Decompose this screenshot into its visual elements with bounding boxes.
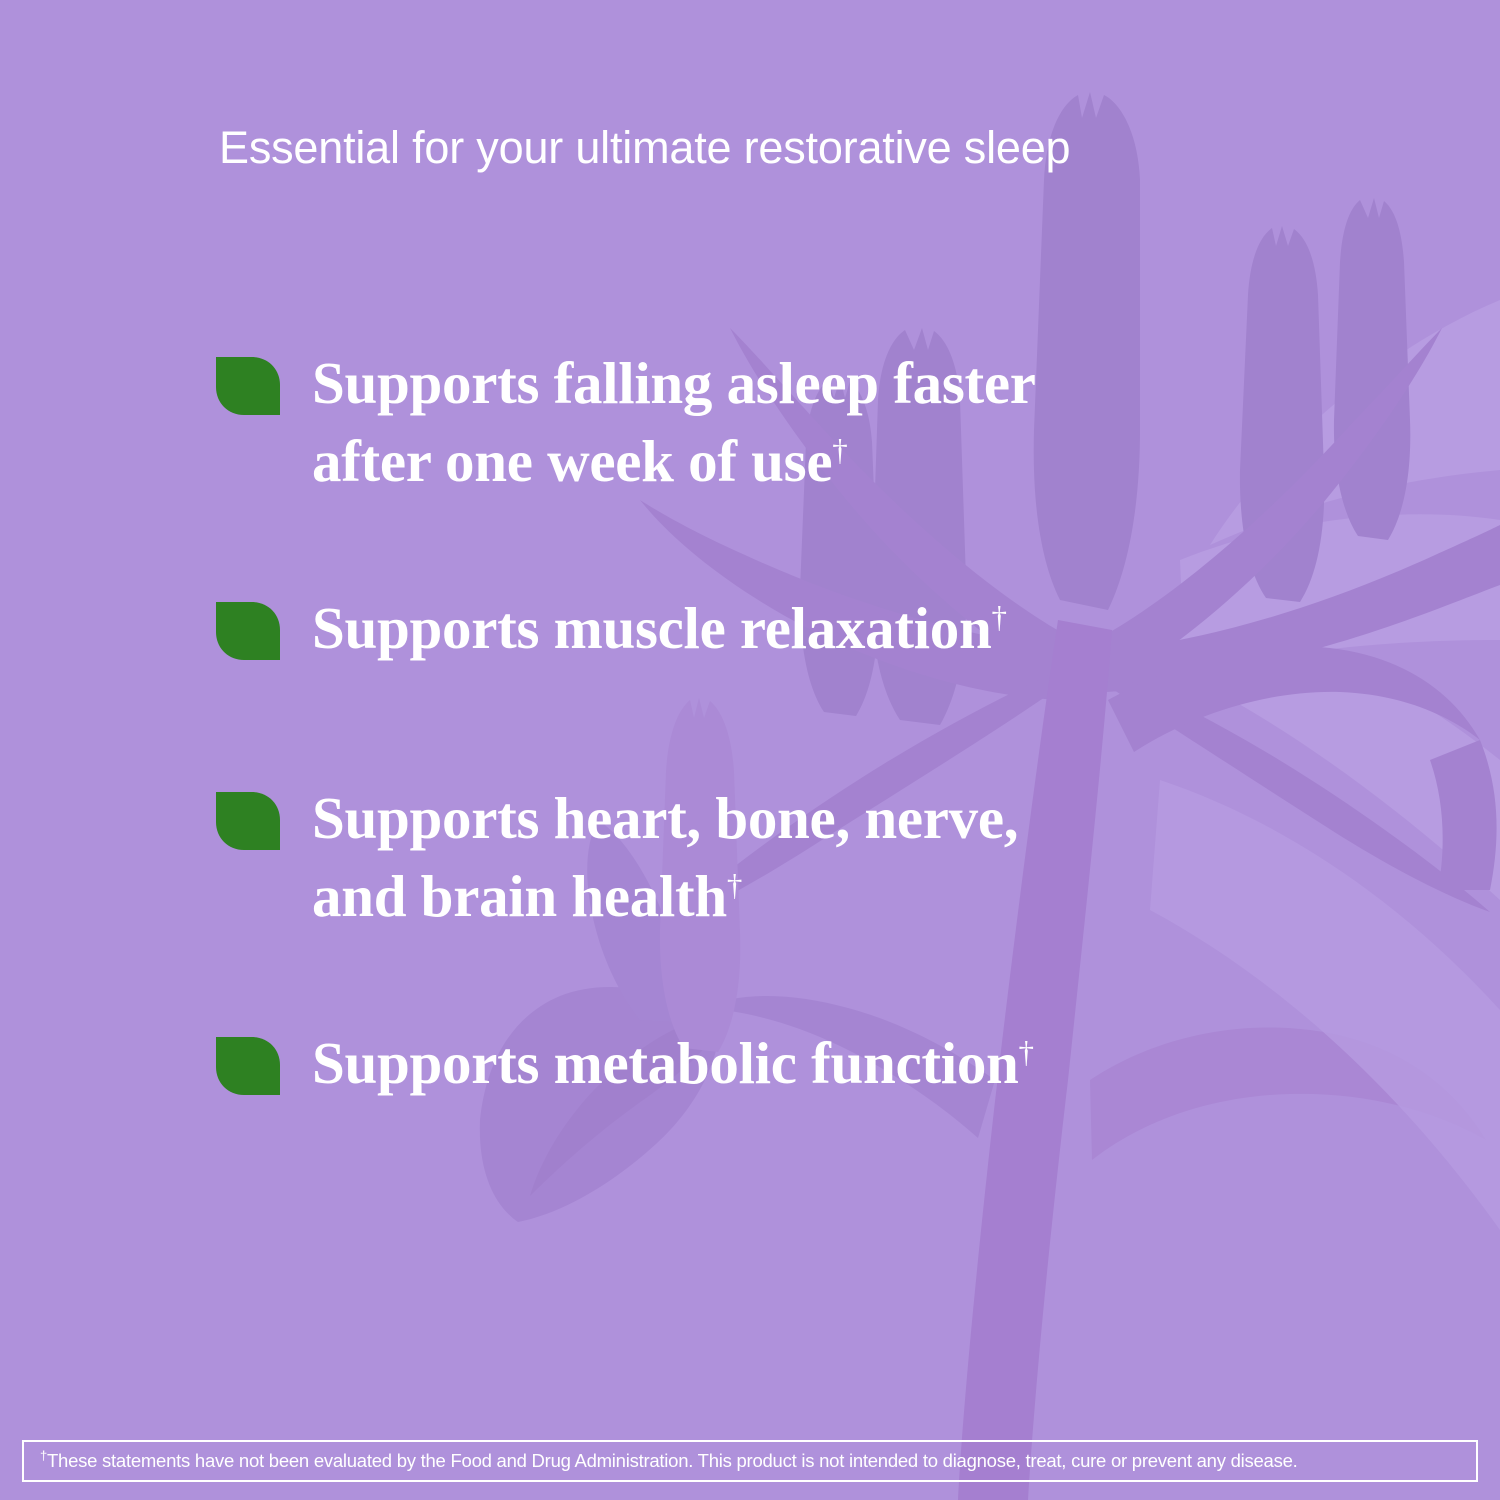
benefit-line: after one week of use — [312, 428, 832, 494]
footnote-marker: † — [832, 432, 847, 467]
benefit-text: Supports heart, bone, nerve, and brain h… — [312, 780, 1018, 936]
footnote-marker: † — [1019, 1034, 1034, 1069]
benefit-line: Supports falling asleep faster — [312, 350, 1036, 416]
benefit-line: Supports muscle relaxation — [312, 595, 992, 661]
disclaimer-body: These statements have not been evaluated… — [47, 1450, 1298, 1471]
benefit-item: Supports metabolic function† — [214, 1025, 1334, 1145]
footnote-marker: † — [40, 1448, 47, 1463]
benefit-line: and brain health — [312, 863, 727, 929]
benefit-text: Supports metabolic function† — [312, 1025, 1034, 1103]
benefits-list: Supports falling asleep faster after one… — [214, 345, 1334, 1145]
fda-disclaimer-text: †These statements have not been evaluate… — [40, 1450, 1298, 1472]
benefit-line: Supports heart, bone, nerve, — [312, 785, 1018, 851]
benefit-item: Supports falling asleep faster after one… — [214, 345, 1334, 590]
product-benefits-card: Essential for your ultimate restorative … — [0, 0, 1500, 1500]
fda-disclaimer-box: †These statements have not been evaluate… — [22, 1440, 1478, 1482]
benefit-text: Supports muscle relaxation† — [312, 590, 1007, 668]
leaf-icon — [214, 790, 282, 852]
benefit-item: Supports heart, bone, nerve, and brain h… — [214, 780, 1334, 1025]
footnote-marker: † — [727, 867, 742, 902]
leaf-icon — [214, 355, 282, 417]
leaf-icon — [214, 600, 282, 662]
benefit-line: Supports metabolic function — [312, 1030, 1019, 1096]
footnote-marker: † — [992, 599, 1007, 634]
leaf-icon — [214, 1035, 282, 1097]
page-title: Essential for your ultimate restorative … — [219, 122, 1070, 174]
benefit-text: Supports falling asleep faster after one… — [312, 345, 1036, 501]
benefit-item: Supports muscle relaxation† — [214, 590, 1334, 780]
